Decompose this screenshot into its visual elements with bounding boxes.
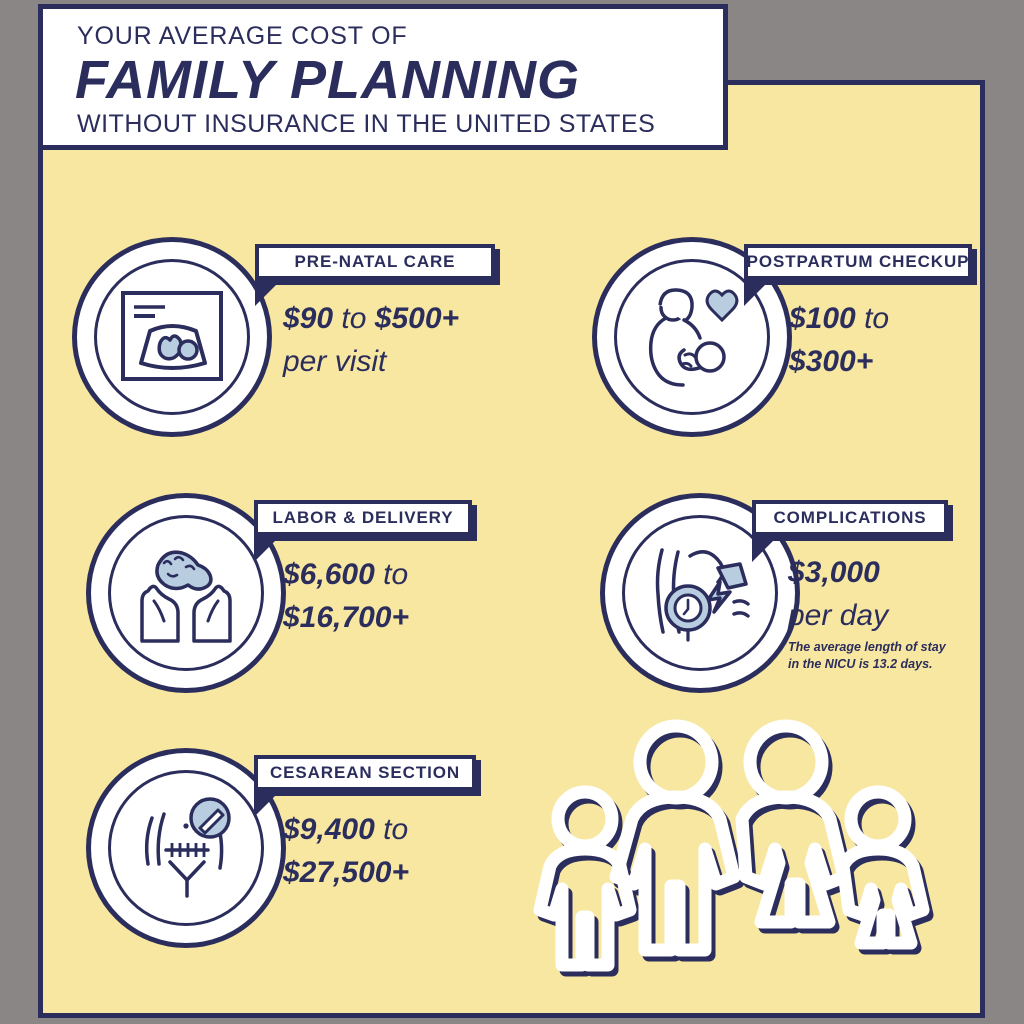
amount-joiner: to: [383, 813, 408, 846]
card-label-badge: PRE-NATAL CARE: [255, 244, 495, 280]
amount-joiner: to: [864, 302, 889, 335]
card-label: COMPLICATIONS: [773, 508, 926, 528]
card-price: $9,400 to $27,500+: [283, 808, 409, 894]
hands-cradling-baby-icon: [124, 531, 248, 655]
card-label-badge: COMPLICATIONS: [752, 500, 948, 536]
amount-low: $90: [283, 302, 333, 335]
ultrasound-icon: [110, 275, 234, 399]
price-line-1: $90 to $500+: [283, 297, 459, 340]
page-title: FAMILY PLANNING: [75, 51, 723, 109]
card-label: PRE-NATAL CARE: [295, 252, 456, 272]
amount-high: $500+: [375, 302, 459, 335]
amount-high: $27,500+: [283, 851, 409, 894]
card-price: $90 to $500+ per visit: [283, 297, 459, 383]
icon-circle: [72, 237, 272, 437]
price-line-1: $9,400 to: [283, 808, 409, 851]
card-label-badge: LABOR & DELIVERY: [254, 500, 472, 536]
card-label: LABOR & DELIVERY: [273, 508, 454, 528]
card-cesarean-section: CESAREAN SECTION $9,400 to $27,500+: [86, 748, 506, 948]
badge-tail: [744, 280, 770, 306]
infographic-canvas: YOUR AVERAGE COST OF FAMILY PLANNING WIT…: [0, 0, 1024, 1024]
amount-high: $16,700+: [283, 596, 409, 639]
amount-joiner: to: [383, 558, 408, 591]
card-note-line-1: The average length of stay: [788, 639, 946, 656]
price-unit: per visit: [283, 340, 459, 383]
badge-tail: [752, 536, 778, 562]
amount-low: $6,600: [283, 558, 375, 591]
card-postpartum-checkup: POSTPARTUM CHECKUP $100 to $300+: [592, 237, 992, 437]
abdomen-incision-scalpel-icon: [124, 786, 248, 910]
pregnant-belly-pain-icon: [638, 531, 762, 655]
card-label: CESAREAN SECTION: [270, 763, 460, 783]
card-price: $6,600 to $16,700+: [283, 553, 409, 639]
card-labor-and-delivery: LABOR & DELIVERY $6,600 to $16,700+: [86, 493, 506, 693]
badge-tail: [255, 280, 281, 306]
card-label: POSTPARTUM CHECKUP: [747, 252, 970, 272]
price-unit: per day: [788, 594, 888, 637]
amount-high: $300+: [789, 340, 889, 383]
card-complications: COMPLICATIONS $3,000 per day The average…: [600, 493, 990, 703]
card-label-badge: CESAREAN SECTION: [254, 755, 476, 791]
badge-tail: [254, 791, 280, 817]
card-label-badge: POSTPARTUM CHECKUP: [744, 244, 972, 280]
title-line-1: YOUR AVERAGE COST OF: [77, 23, 723, 49]
amount-joiner: to: [341, 302, 366, 335]
card-note-line-2: in the NICU is 13.2 days.: [788, 656, 946, 673]
amount-low: $9,400: [283, 813, 375, 846]
title-block: YOUR AVERAGE COST OF FAMILY PLANNING WIT…: [38, 4, 728, 150]
amount-low: $100: [789, 302, 856, 335]
amount-low: $3,000: [788, 551, 888, 594]
mother-and-baby-icon: [630, 275, 754, 399]
price-line-1: $6,600 to: [283, 553, 409, 596]
card-price: $3,000 per day: [788, 551, 888, 637]
family-of-four-illustration: [528, 706, 938, 996]
title-line-3: WITHOUT INSURANCE IN THE UNITED STATES: [77, 111, 723, 137]
card-price: $100 to $300+: [789, 297, 889, 383]
card-pre-natal-care: PRE-NATAL CARE $90 to $500+ per visit: [72, 237, 502, 437]
price-line-1: $100 to: [789, 297, 889, 340]
badge-tail: [254, 536, 280, 562]
card-note: The average length of stay in the NICU i…: [788, 639, 946, 673]
